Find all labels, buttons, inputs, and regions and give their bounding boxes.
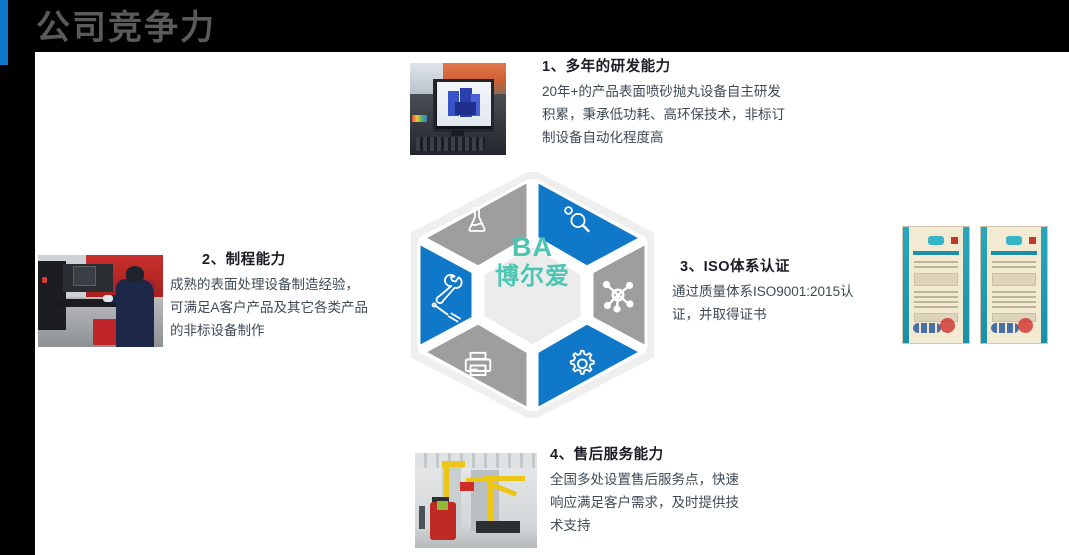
photo-iso-certificates — [900, 226, 1050, 346]
item-rnd-title: 1、多年的研发能力 — [542, 55, 860, 76]
item-iso-line-2: 证，并取得证书 — [672, 303, 897, 326]
item-aftersales-line-1: 全国多处设置售后服务点，快速 — [550, 468, 840, 491]
item-manufacturing: 2、制程能力 成熟的表面处理设备制造经验， 可满足A客户产品及其它各类产品 的非… — [35, 248, 435, 342]
left-black-band — [0, 0, 35, 555]
slide-root: 公司竞争力 1、多年的研发能力 20年+的产品表面喷砂抛丸设备自主研发 积累，秉… — [0, 0, 1069, 555]
header-accent-stripe — [0, 0, 8, 65]
item-aftersales-title: 4、售后服务能力 — [550, 443, 840, 464]
item-aftersales-body: 全国多处设置售后服务点，快速 响应满足客户需求，及时提供技 术支持 — [550, 468, 840, 537]
item-manufacturing-line-2: 可满足A客户产品及其它各类产品 — [170, 296, 435, 319]
item-manufacturing-body: 成熟的表面处理设备制造经验， 可满足A客户产品及其它各类产品 的非标设备制作 — [170, 273, 435, 342]
hexagon-svg — [410, 172, 655, 418]
item-rnd: 1、多年的研发能力 20年+的产品表面喷砂抛丸设备自主研发 积累，秉承低功耗、高… — [410, 55, 860, 149]
item-iso-line-1: 通过质量体系ISO9001:2015认 — [672, 280, 897, 303]
hexagon-center-shape — [483, 245, 582, 346]
page-title: 公司竞争力 — [36, 6, 216, 50]
item-iso-title: 3、ISO体系认证 — [680, 255, 897, 276]
item-iso-body: 通过质量体系ISO9001:2015认 证，并取得证书 — [672, 280, 897, 326]
item-aftersales-line-2: 响应满足客户需求，及时提供技 — [550, 491, 840, 514]
item-manufacturing-line-1: 成熟的表面处理设备制造经验， — [170, 273, 435, 296]
item-aftersales: 4、售后服务能力 全国多处设置售后服务点，快速 响应满足客户需求，及时提供技 术… — [410, 443, 840, 537]
item-rnd-line-2: 积累，秉承低功耗、高环保技术，非标订 — [542, 103, 860, 126]
item-manufacturing-title: 2、制程能力 — [202, 248, 435, 269]
item-rnd-line-3: 制设备自动化程度高 — [542, 126, 860, 149]
hexagon-wheel: BA 博尔爱 — [410, 172, 655, 418]
item-manufacturing-line-3: 的非标设备制作 — [170, 319, 435, 342]
item-rnd-line-1: 20年+的产品表面喷砂抛丸设备自主研发 — [542, 80, 860, 103]
item-iso: 3、ISO体系认证 通过质量体系ISO9001:2015认 证，并取得证书 — [672, 255, 897, 326]
item-aftersales-line-3: 术支持 — [550, 514, 840, 537]
certificate-quality-cn — [980, 226, 1048, 344]
item-rnd-body: 20年+的产品表面喷砂抛丸设备自主研发 积累，秉承低功耗、高环保技术，非标订 制… — [542, 80, 860, 149]
certificate-iso9001 — [902, 226, 970, 344]
